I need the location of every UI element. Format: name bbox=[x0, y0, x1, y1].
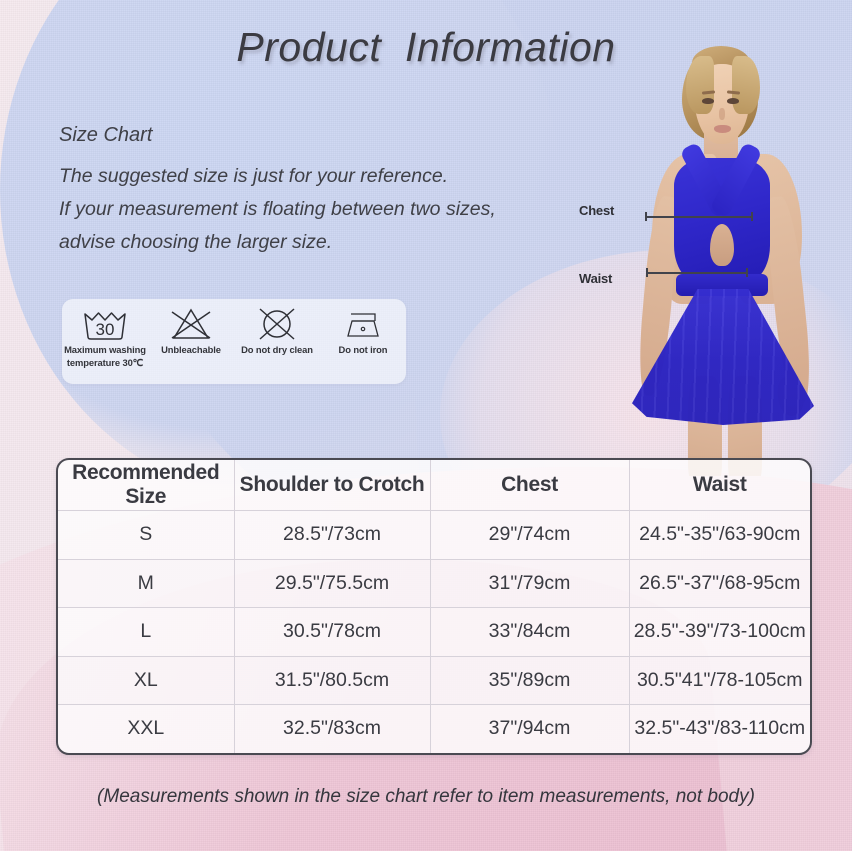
model-lips bbox=[714, 125, 731, 133]
cell-size: L bbox=[58, 608, 234, 657]
chest-measurement-cap-right bbox=[751, 212, 753, 221]
care-instructions-panel: 30 Maximum washing temperature 30℃ Unble… bbox=[62, 299, 406, 384]
table-row: XXL 32.5"/83cm 37"/94cm 32.5"-43"/83-110… bbox=[58, 705, 810, 753]
cell-chest: 37"/94cm bbox=[430, 705, 629, 753]
cell-size: M bbox=[58, 559, 234, 608]
measurement-footnote: (Measurements shown in the size chart re… bbox=[0, 786, 852, 808]
column-header-recommended-size: Recommended Size bbox=[58, 460, 234, 511]
model-hair-front-left bbox=[686, 56, 714, 114]
column-header-chest: Chest bbox=[430, 460, 629, 511]
intro-line-1: The suggested size is just for your refe… bbox=[59, 160, 589, 193]
cell-shoulder-to-crotch: 28.5"/73cm bbox=[234, 511, 430, 560]
care-label-dry-clean: Do not dry clean bbox=[241, 344, 313, 357]
svg-text:30: 30 bbox=[96, 320, 115, 339]
care-label-bleach: Unbleachable bbox=[161, 344, 221, 357]
wash-tub-30-icon: 30 bbox=[79, 306, 131, 342]
model-eye-left bbox=[702, 98, 714, 104]
chest-measurement-line bbox=[645, 216, 753, 218]
dress-waist-cutout bbox=[710, 224, 734, 266]
cell-size: XL bbox=[58, 656, 234, 705]
waist-measurement-label: Waist bbox=[579, 271, 612, 286]
table-row: M 29.5"/75.5cm 31"/79cm 26.5"-37"/68-95c… bbox=[58, 559, 810, 608]
cell-shoulder-to-crotch: 30.5"/78cm bbox=[234, 608, 430, 657]
model-nose bbox=[719, 108, 725, 120]
chest-measurement-cap-left bbox=[645, 212, 647, 221]
cell-chest: 35"/89cm bbox=[430, 656, 629, 705]
care-label-iron: Do not iron bbox=[339, 344, 388, 357]
model-eye-right bbox=[727, 98, 739, 104]
waist-measurement-cap-right bbox=[746, 268, 748, 277]
care-item-bleach: Unbleachable bbox=[148, 299, 234, 357]
size-chart-heading: Size Chart bbox=[59, 124, 589, 147]
table-row: L 30.5"/78cm 33"/84cm 28.5"-39"/73-100cm bbox=[58, 608, 810, 657]
intro-line-2: If your measurement is floating between … bbox=[59, 193, 589, 226]
no-dry-clean-icon bbox=[255, 306, 299, 342]
no-bleach-icon bbox=[168, 306, 214, 342]
cell-chest: 29"/74cm bbox=[430, 511, 629, 560]
model-hair-front-right bbox=[732, 56, 760, 114]
table-row: S 28.5"/73cm 29"/74cm 24.5"-35"/63-90cm bbox=[58, 511, 810, 560]
table-header-row: Recommended Size Shoulder to Crotch Ches… bbox=[58, 460, 810, 511]
care-item-iron: Do not iron bbox=[320, 299, 406, 357]
waist-measurement-line bbox=[646, 272, 748, 274]
cell-chest: 33"/84cm bbox=[430, 608, 629, 657]
care-item-dry-clean: Do not dry clean bbox=[234, 299, 320, 357]
cell-waist: 32.5"-43"/83-110cm bbox=[629, 705, 810, 753]
waist-measurement-cap-left bbox=[646, 268, 648, 277]
chest-measurement-label: Chest bbox=[579, 203, 614, 218]
cell-shoulder-to-crotch: 32.5"/83cm bbox=[234, 705, 430, 753]
cell-shoulder-to-crotch: 29.5"/75.5cm bbox=[234, 559, 430, 608]
cell-chest: 31"/79cm bbox=[430, 559, 629, 608]
size-chart-table: Recommended Size Shoulder to Crotch Ches… bbox=[56, 458, 812, 755]
model-photo bbox=[596, 46, 852, 476]
product-information-page: Product Information Size Chart The sugge… bbox=[0, 0, 852, 851]
column-header-waist: Waist bbox=[629, 460, 810, 511]
cell-shoulder-to-crotch: 31.5"/80.5cm bbox=[234, 656, 430, 705]
cell-size: S bbox=[58, 511, 234, 560]
care-item-washing: 30 Maximum washing temperature 30℃ bbox=[62, 299, 148, 369]
cell-waist: 30.5"41"/78-105cm bbox=[629, 656, 810, 705]
table-row: XL 31.5"/80.5cm 35"/89cm 30.5"41"/78-105… bbox=[58, 656, 810, 705]
intro-line-3: advise choosing the larger size. bbox=[59, 226, 589, 259]
cell-waist: 28.5"-39"/73-100cm bbox=[629, 608, 810, 657]
care-label-washing: Maximum washing temperature 30℃ bbox=[64, 344, 146, 369]
cell-size: XXL bbox=[58, 705, 234, 753]
column-header-shoulder-to-crotch: Shoulder to Crotch bbox=[234, 460, 430, 511]
size-chart-intro: Size Chart The suggested size is just fo… bbox=[59, 124, 589, 259]
do-not-iron-icon bbox=[338, 306, 388, 342]
cell-waist: 24.5"-35"/63-90cm bbox=[629, 511, 810, 560]
cell-waist: 26.5"-37"/68-95cm bbox=[629, 559, 810, 608]
